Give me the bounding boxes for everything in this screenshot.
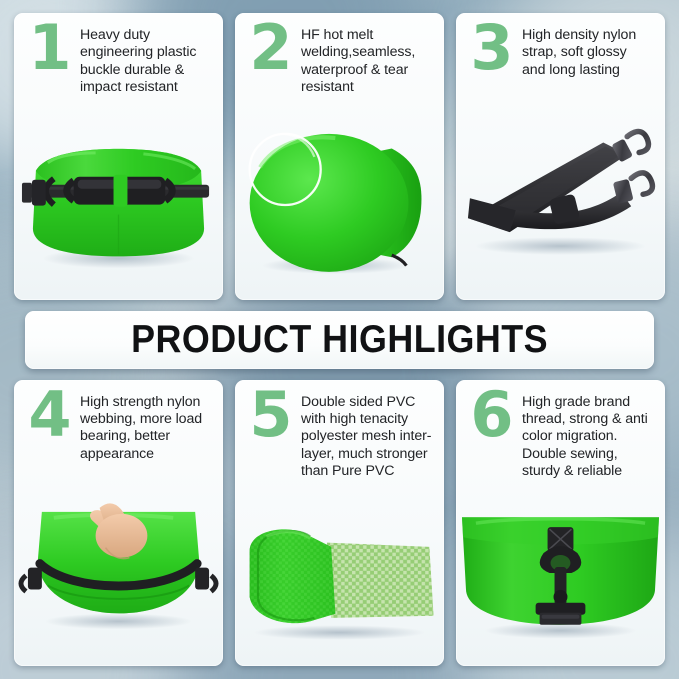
card-4-header: 4 High strength nylon webbing, more load… (14, 380, 223, 463)
highlight-card-5[interactable]: 5 Double sided PVC with high tenacity po… (235, 380, 444, 666)
card-2-description: HF hot melt welding,seamless, waterproof… (301, 25, 432, 96)
card-3-header: 3 High density nylon strap, soft glossy … (456, 13, 665, 79)
card-6-description: High grade brand thread, strong & anti c… (522, 392, 653, 481)
card-1-header: 1 Heavy duty engineering plastic buckle … (14, 13, 223, 96)
highlights-row-bottom: 4 High strength nylon webbing, more load… (14, 380, 665, 666)
card-5-description: Double sided PVC with high tenacity poly… (301, 392, 432, 481)
card-1-number: 1 (24, 23, 76, 73)
card-2-header: 2 HF hot melt welding,seamless, waterpro… (235, 13, 444, 96)
highlight-card-2[interactable]: 2 HF hot melt welding,seamless, waterpro… (235, 13, 444, 300)
card-4-description: High strength nylon webbing, more load b… (80, 392, 211, 463)
banner-title: PRODUCT HIGHLIGHTS (131, 318, 548, 362)
card-1-image-green-dry-bag-with-black-buckle (14, 96, 223, 299)
card-1-description: Heavy duty engineering plastic buckle du… (80, 25, 211, 96)
card-4-number: 4 (24, 390, 76, 440)
product-highlights-banner: PRODUCT HIGHLIGHTS (25, 311, 654, 369)
highlight-card-4[interactable]: 4 High strength nylon webbing, more load… (14, 380, 223, 666)
infographic-page: 1 Heavy duty engineering plastic buckle … (0, 0, 679, 679)
card-6-header: 6 High grade brand thread, strong & anti… (456, 380, 665, 481)
card-3-image-black-nylon-shoulder-strap-with-hooks (456, 79, 665, 300)
card-5-image-rolled-green-pvc-mesh-fabric-swatch (235, 480, 444, 666)
highlights-row-top: 1 Heavy duty engineering plastic buckle … (14, 13, 665, 300)
card-3-number: 3 (466, 23, 518, 73)
card-5-number: 5 (245, 390, 297, 440)
highlight-card-3[interactable]: 3 High density nylon strap, soft glossy … (456, 13, 665, 300)
card-6-number: 6 (466, 390, 518, 440)
card-4-image-hand-lifting-green-bag-by-webbing-handle (14, 463, 223, 666)
highlight-card-1[interactable]: 1 Heavy duty engineering plastic buckle … (14, 13, 223, 300)
card-5-header: 5 Double sided PVC with high tenacity po… (235, 380, 444, 481)
card-2-image-green-dry-bag-rolled-seamless-base (235, 96, 444, 299)
highlight-card-6[interactable]: 6 High grade brand thread, strong & anti… (456, 380, 665, 666)
card-2-number: 2 (245, 23, 297, 73)
card-6-image-green-bag-d-ring-and-stitched-clip (456, 480, 665, 666)
card-3-description: High density nylon strap, soft glossy an… (522, 25, 653, 79)
